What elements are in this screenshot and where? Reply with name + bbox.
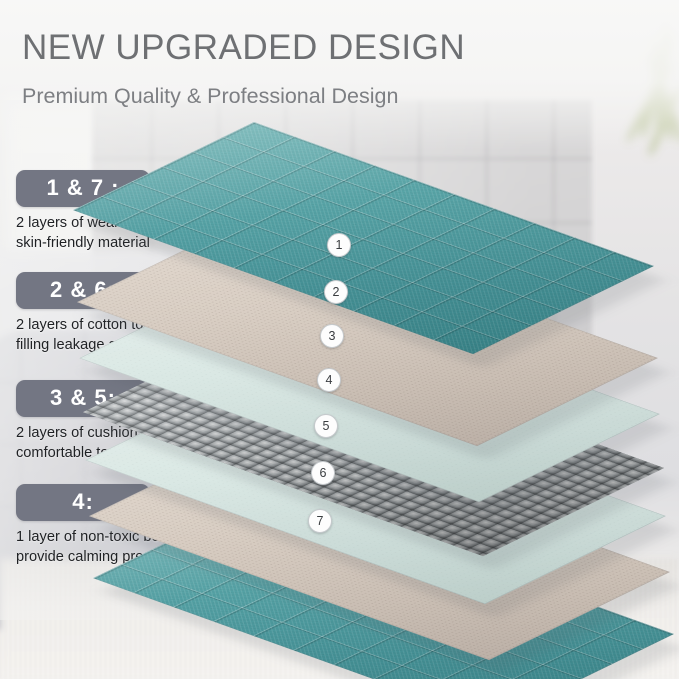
- layer-number-5: 5: [314, 414, 338, 438]
- layer-stack-diagram: 1 2 3 4 5 6 7: [258, 100, 679, 660]
- layer-1-teal-fabric: [254, 122, 679, 372]
- layer-number-2: 2: [324, 280, 348, 304]
- layer-number-7: 7: [308, 509, 332, 533]
- page-title: NEW UPGRADED DESIGN: [22, 28, 465, 68]
- layer-number-6: 6: [311, 461, 335, 485]
- layer-number-3: 3: [320, 324, 344, 348]
- layer-number-4: 4: [317, 368, 341, 392]
- layer-number-1: 1: [327, 233, 351, 257]
- infographic-canvas: NEW UPGRADED DESIGN Premium Quality & Pr…: [0, 0, 679, 679]
